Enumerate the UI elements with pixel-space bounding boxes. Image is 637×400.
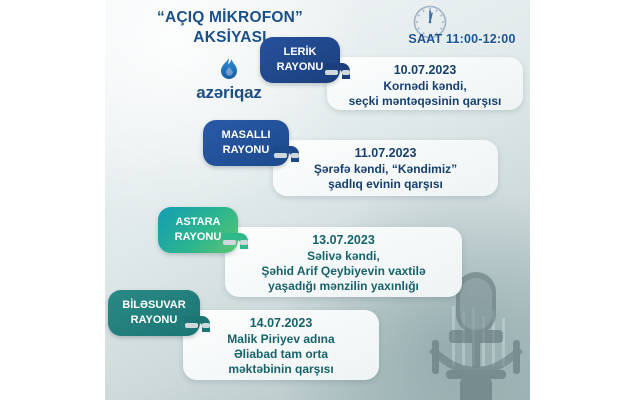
region-tab-lerik[interactable]: LERİK RAYONU [260,37,340,83]
region-tab-line-1: BİLƏSUVAR [122,298,185,313]
region-tab-line-1: MASALLI [222,128,271,143]
logo-wordmark: azəriqaz [129,83,329,103]
gas-flame-icon [218,57,240,81]
schedule-place-line-1: Malik Piriyev adına [193,332,369,347]
schedule-place-line-3: yaşadığı mənzilin yaxınlığı [235,279,452,294]
region-tab-astara[interactable]: ASTARA RAYONU [158,207,238,253]
schedule-date: 14.07.2023 [193,315,369,331]
schedule-place-line-1: Kornədi kəndi, [337,79,513,94]
schedule-place-line-1: Şərəfə kəndi, “Kəndimiz” [283,162,488,177]
connector-icon [184,313,218,332]
campaign-poster: “AÇIQ MİKROFON” AKSİYASI azəriqaz [105,0,530,400]
schedule-place-line-2: Əliabad tam orta [193,347,369,362]
schedule-card-astara: 13.07.2023 Səlivə kəndi, Şəhid Arif Qeyb… [225,227,462,297]
schedule-place-line-3: məktəbinin qarşısı [193,362,369,377]
region-tab-line-2: RAYONU [175,230,222,245]
headline-line-1: “AÇIQ MİKROFON” [157,9,303,26]
region-tab-line-2: RAYONU [277,60,324,75]
schedule-place-line-1: Səlivə kəndi, [235,249,452,264]
schedule-date: 13.07.2023 [235,232,452,248]
connector-icon [324,60,358,79]
region-tab-bilesuvar[interactable]: BİLƏSUVAR RAYONU [108,290,200,336]
schedule-place-line-2: Şəhid Arif Qeybiyevin vaxtilə [235,264,452,279]
time-label: SAAT 11:00-12:00 [367,32,530,46]
schedule-place-line-2: şadlıq evinin qarşısı [283,177,488,192]
region-tab-masalli[interactable]: MASALLI RAYONU [203,120,289,166]
schedule-date: 11.07.2023 [283,145,488,161]
screenshot-frame: “AÇIQ MİKROFON” AKSİYASI azəriqaz [0,0,637,400]
region-tab-line-2: RAYONU [131,313,178,328]
region-tab-line-1: ASTARA [175,215,220,230]
schedule-date: 10.07.2023 [337,62,513,78]
connector-icon [273,143,307,162]
schedule-place-line-2: seçki məntəqəsinin qarşısı [337,94,513,109]
region-tab-line-1: LERİK [284,45,317,60]
region-tab-line-2: RAYONU [223,143,270,158]
connector-icon [222,230,256,249]
